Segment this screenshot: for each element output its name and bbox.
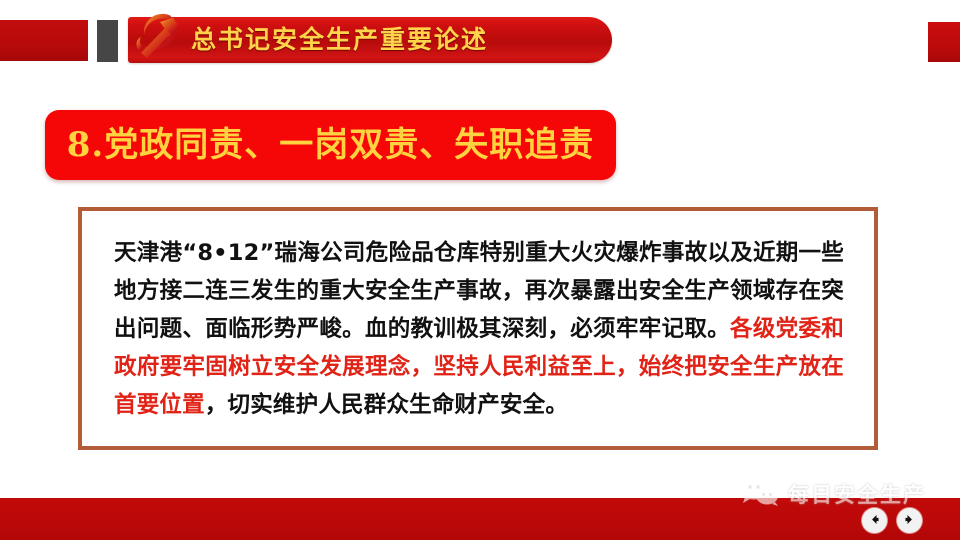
slide-canvas: 总书记安全生产重要论述 8.党政同责、一岗双责、失职追责 天津港“8•12”瑞海… [0, 0, 960, 540]
content-paragraph: 天津港“8•12”瑞海公司危险品仓库特别重大火灾爆炸事故以及近期一些地方接二连三… [114, 234, 844, 424]
wechat-icon [740, 477, 780, 511]
header-banner-title: 总书记安全生产重要论述 [191, 22, 488, 58]
communist-party-emblem-icon [127, 8, 189, 64]
content-text-part-2: ，切实维护人民群众生命财产安全。 [205, 392, 568, 418]
arrow-left-icon [868, 511, 881, 530]
arrow-right-icon [903, 511, 916, 530]
prev-slide-button[interactable] [862, 508, 887, 533]
header-right-red-block [928, 22, 960, 62]
watermark: 每日安全生产 [740, 477, 926, 511]
header-gray-block [97, 20, 118, 62]
section-title-pill: 8.党政同责、一岗双责、失职追责 [45, 110, 616, 180]
watermark-text: 每日安全生产 [788, 479, 926, 509]
next-slide-button[interactable] [897, 508, 922, 533]
section-title-text: 8.党政同责、一岗双责、失职追责 [45, 110, 616, 180]
header-left-red-block [0, 20, 88, 61]
slide-navigation [862, 508, 922, 533]
content-box: 天津港“8•12”瑞海公司危险品仓库特别重大火灾爆炸事故以及近期一些地方接二连三… [78, 207, 878, 450]
